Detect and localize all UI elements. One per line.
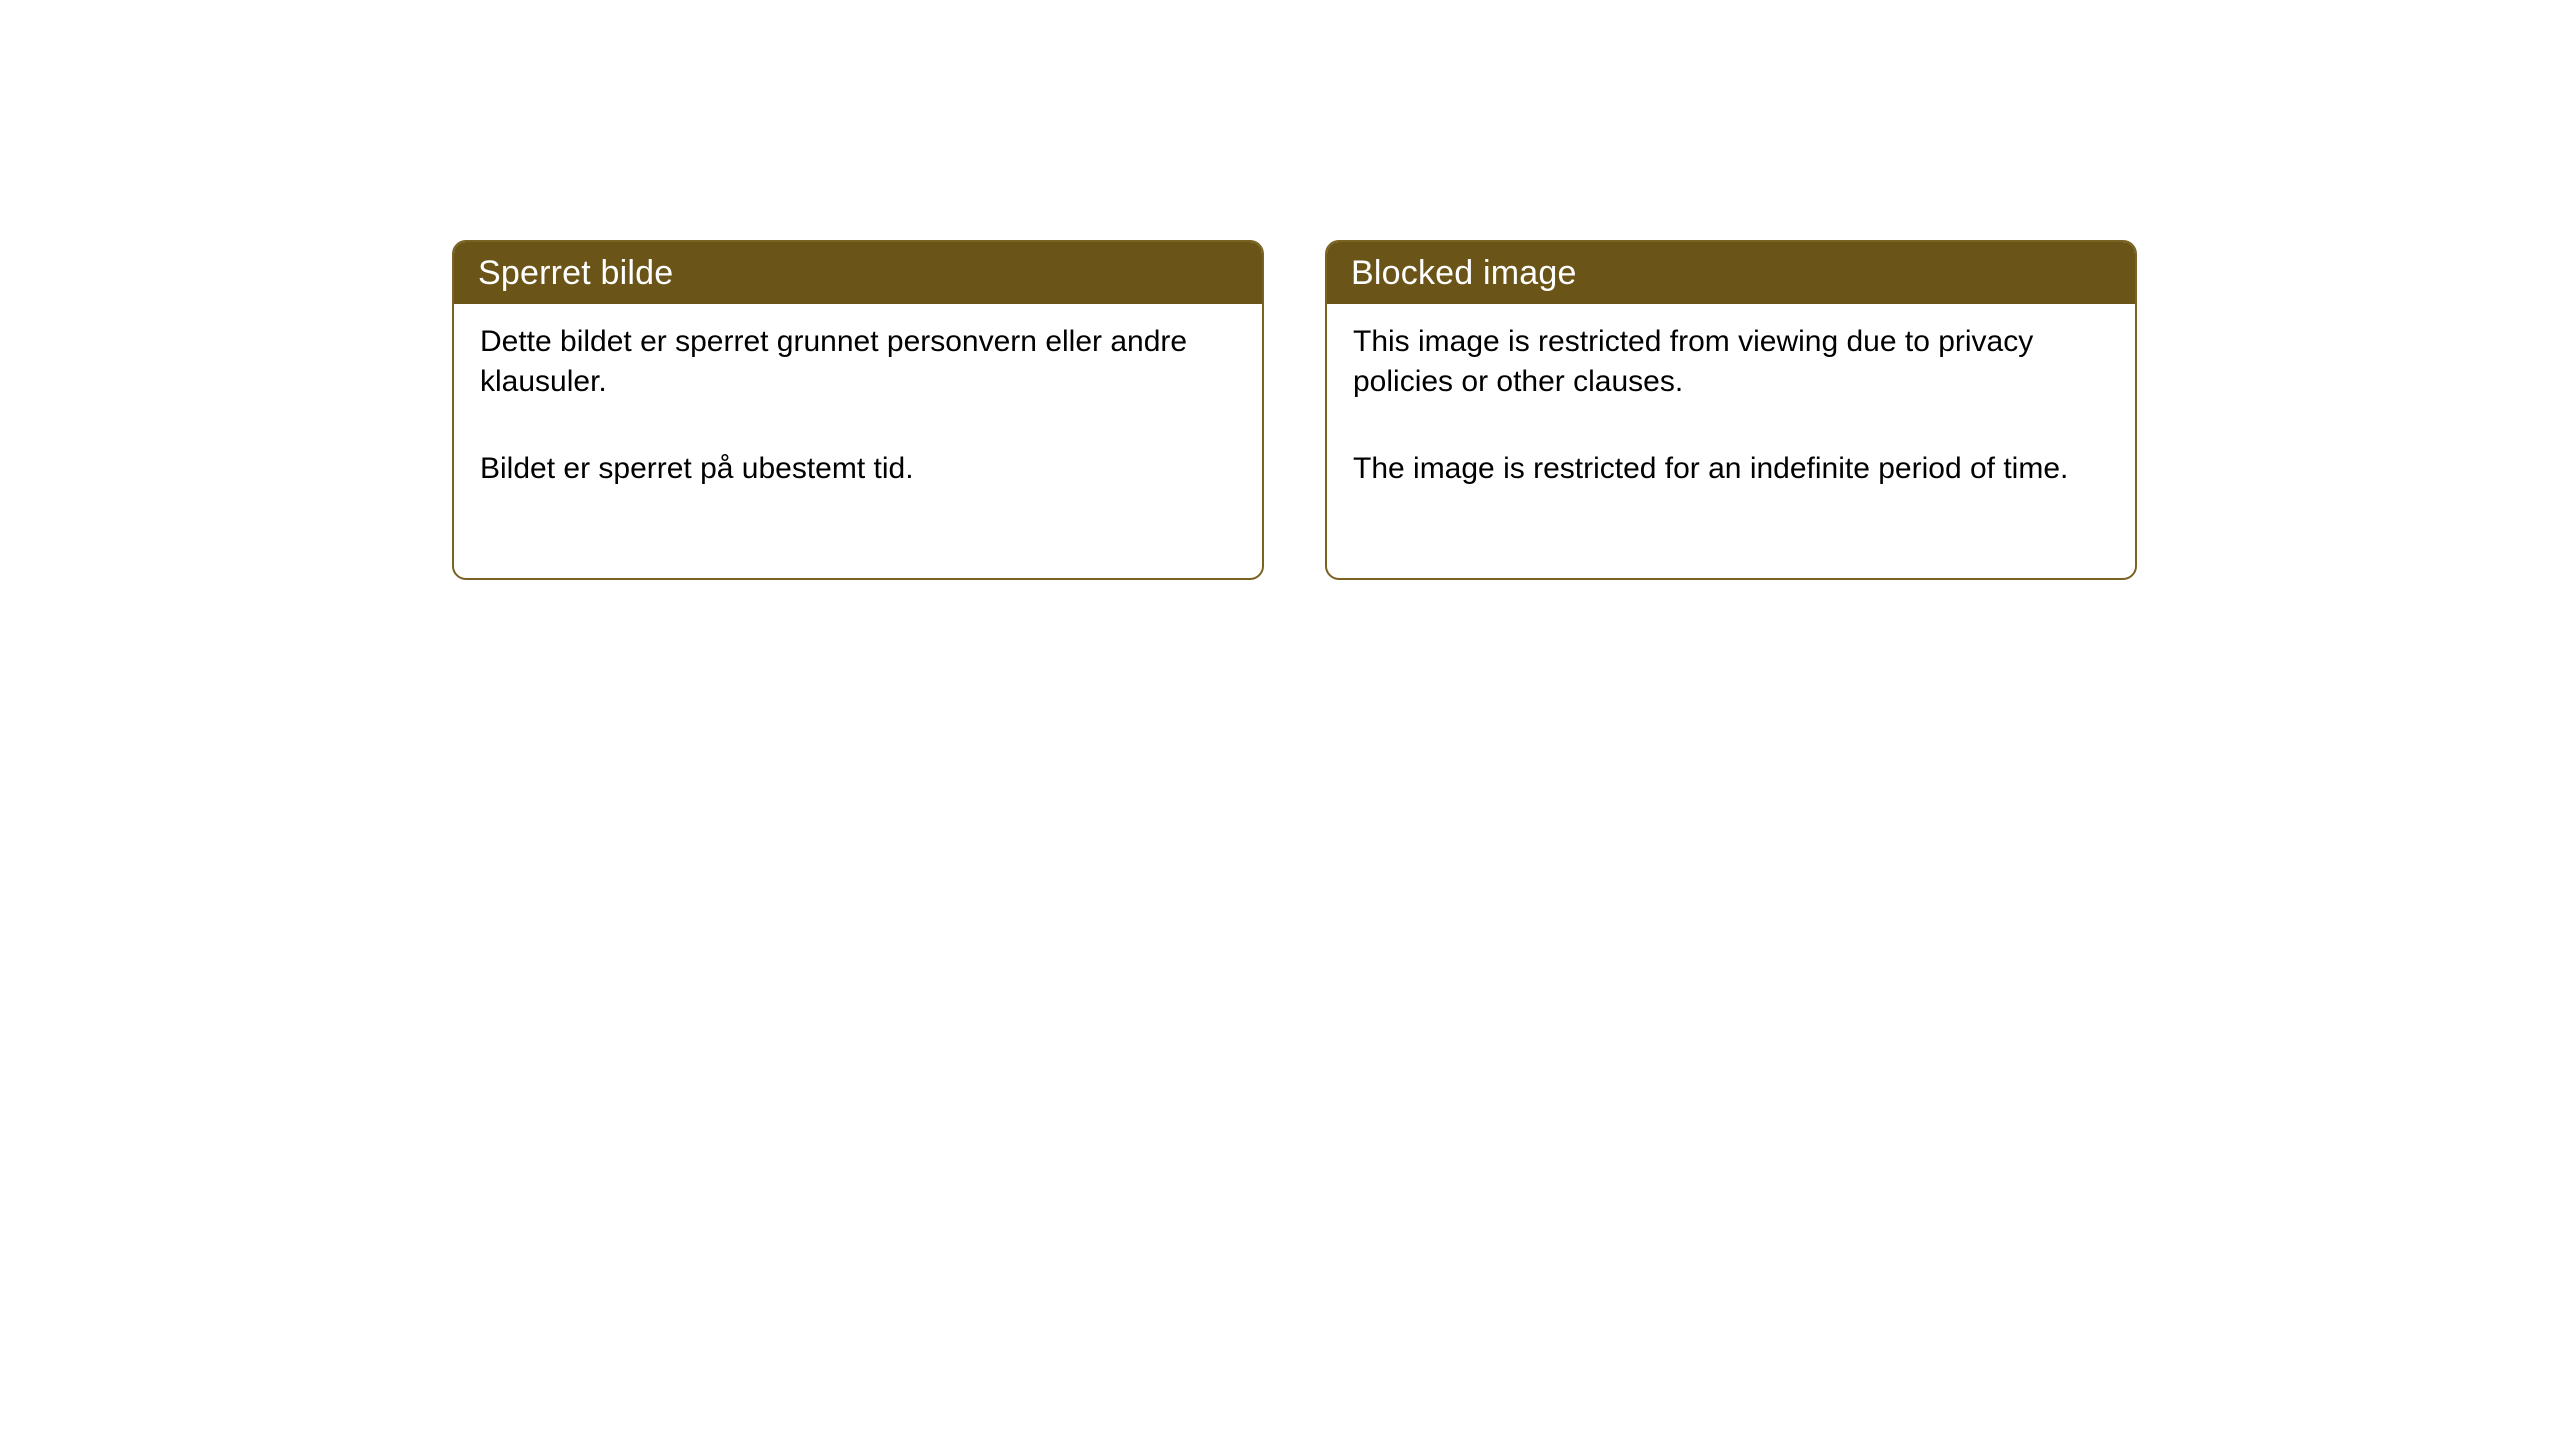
panel-title-norwegian: Sperret bilde [478, 256, 673, 290]
notice-paragraph-primary-norwegian: Dette bildet er sperret grunnet personve… [480, 322, 1240, 401]
panel-header-norwegian: Sperret bilde [454, 242, 1262, 304]
panel-body-english: This image is restricted from viewing du… [1327, 304, 2135, 489]
panel-title-english: Blocked image [1351, 256, 1577, 290]
notice-paragraph-primary-english: This image is restricted from viewing du… [1353, 322, 2113, 401]
blocked-image-notice-norwegian: Sperret bilde Dette bildet er sperret gr… [452, 240, 1264, 580]
panel-header-english: Blocked image [1327, 242, 2135, 304]
panel-body-norwegian: Dette bildet er sperret grunnet personve… [454, 304, 1262, 489]
blocked-image-notice-english: Blocked image This image is restricted f… [1325, 240, 2137, 580]
page-canvas: Sperret bilde Dette bildet er sperret gr… [0, 0, 2560, 1440]
notice-paragraph-secondary-english: The image is restricted for an indefinit… [1353, 449, 2113, 489]
notice-paragraph-secondary-norwegian: Bildet er sperret på ubestemt tid. [480, 449, 1240, 489]
